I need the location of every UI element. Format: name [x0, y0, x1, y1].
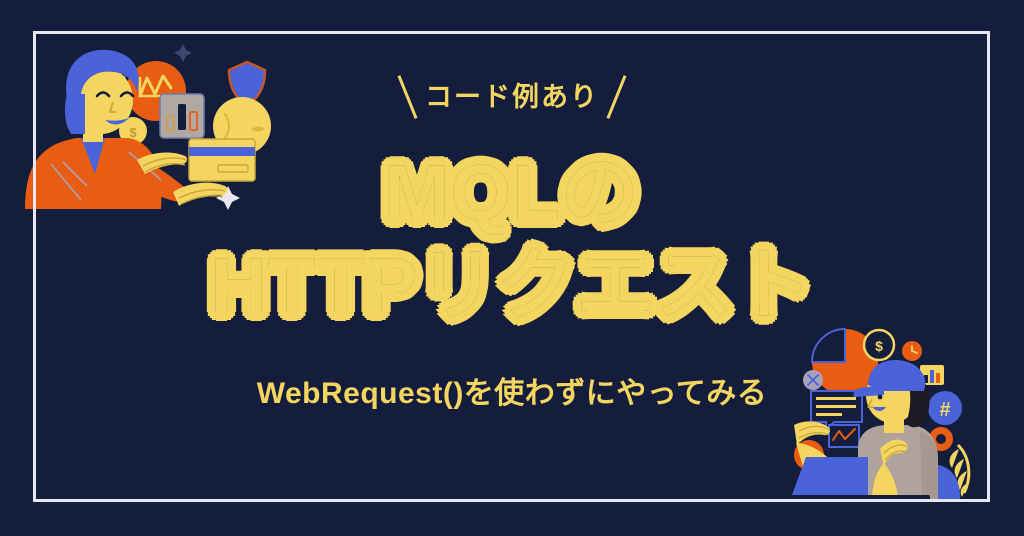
right-slash-decoration: [606, 75, 626, 119]
svg-text:$: $: [875, 338, 883, 354]
close-badge-icon: [803, 370, 823, 390]
right-illustration: $: [772, 327, 987, 502]
title-line-1: MQLの: [211, 152, 814, 233]
eyebrow-label: コード例あり: [425, 84, 599, 111]
coin-icon: $: [864, 330, 894, 360]
subtitle: WebRequest()を使わずにやってみる: [257, 368, 768, 412]
svg-text:$: $: [129, 125, 137, 140]
page-title: MQLの HTTPリクエスト: [211, 152, 814, 326]
left-slash-decoration: [397, 75, 417, 119]
title-line-2: HTTPリクエスト: [211, 245, 814, 326]
eyebrow-row: コード例あり: [406, 74, 618, 120]
thumbnail-canvas: $: [0, 0, 1024, 536]
svg-text:#: #: [939, 399, 950, 421]
line-chart-icon: [829, 425, 859, 447]
hashtag-circle-icon: #: [928, 391, 962, 425]
bar-chart-panel-icon: [160, 94, 204, 138]
clock-badge-icon: [902, 341, 922, 361]
right-illustration-art: $: [772, 327, 987, 502]
